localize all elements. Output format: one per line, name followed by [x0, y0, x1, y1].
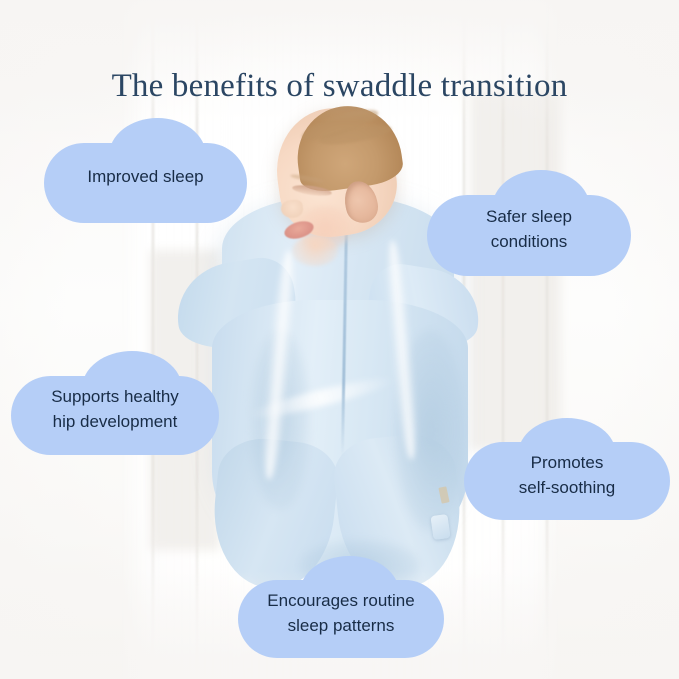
benefit-cloud-routine-sleep[interactable]: Encourages routine sleep patterns — [238, 556, 444, 658]
benefit-label: Promotes self-soothing — [464, 418, 670, 520]
infographic-canvas: The benefits of swaddle transition Impro… — [0, 0, 679, 679]
benefit-cloud-improved-sleep[interactable]: Improved sleep — [44, 118, 247, 223]
benefit-label: Improved sleep — [44, 118, 247, 223]
page-title: The benefits of swaddle transition — [0, 68, 679, 105]
benefit-label: Supports healthy hip development — [11, 351, 219, 455]
benefit-cloud-self-soothing[interactable]: Promotes self-soothing — [464, 418, 670, 520]
benefit-cloud-safer-sleep[interactable]: Safer sleep conditions — [427, 170, 631, 276]
benefit-label: Safer sleep conditions — [427, 170, 631, 276]
benefit-label: Encourages routine sleep patterns — [238, 556, 444, 658]
benefit-cloud-hip-development[interactable]: Supports healthy hip development — [11, 351, 219, 455]
